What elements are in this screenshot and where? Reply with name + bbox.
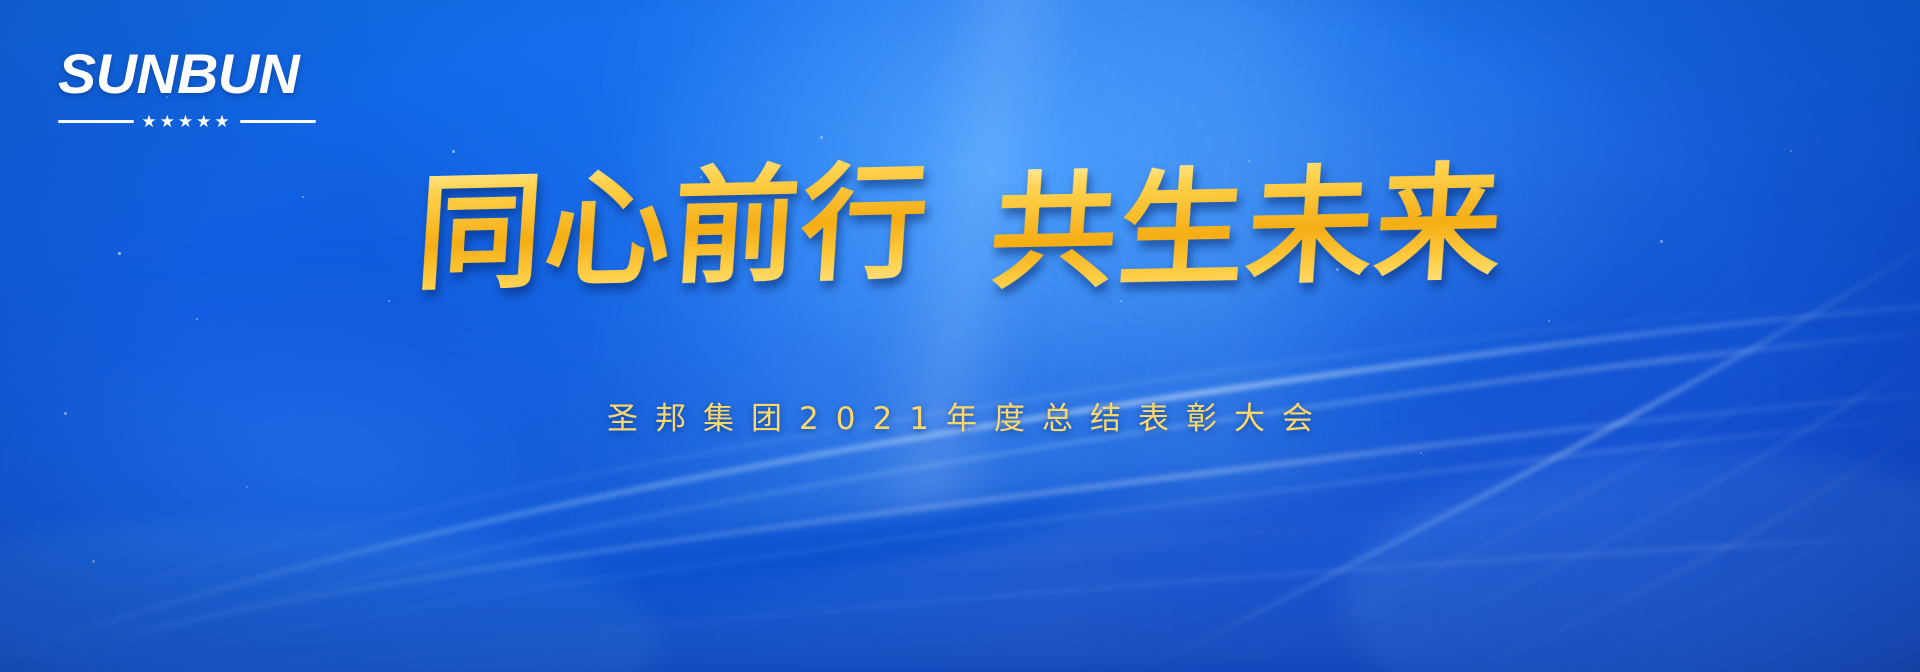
headline-group-2: 共生未来 [986,157,1508,300]
light-sheet-secondary [132,0,1920,661]
headline-calligraphy: 同心前行 共生未来 [0,162,1920,296]
brand-logo[interactable]: SUNBUN ★★★★★ [58,46,328,130]
logo-rule-right [240,120,316,123]
five-stars-icon: ★★★★★ [141,113,232,130]
subtitle: 圣邦集团2021年度总结表彰大会 [0,393,1920,438]
subtitle-text: 圣邦集团2021年度总结表彰大会 [590,393,1330,438]
glow-left [0,202,922,672]
logo-wordmark: SUNBUN [58,46,333,102]
headline-group-1: 同心前行 [412,156,934,301]
logo-rule-left [58,120,134,123]
logo-star-row: ★★★★★ [58,113,316,130]
glow-right [768,0,1920,538]
event-banner: SUNBUN ★★★★★ 同心前行 共生未来 圣邦集团2021年度总结表彰大会 [0,0,1920,672]
